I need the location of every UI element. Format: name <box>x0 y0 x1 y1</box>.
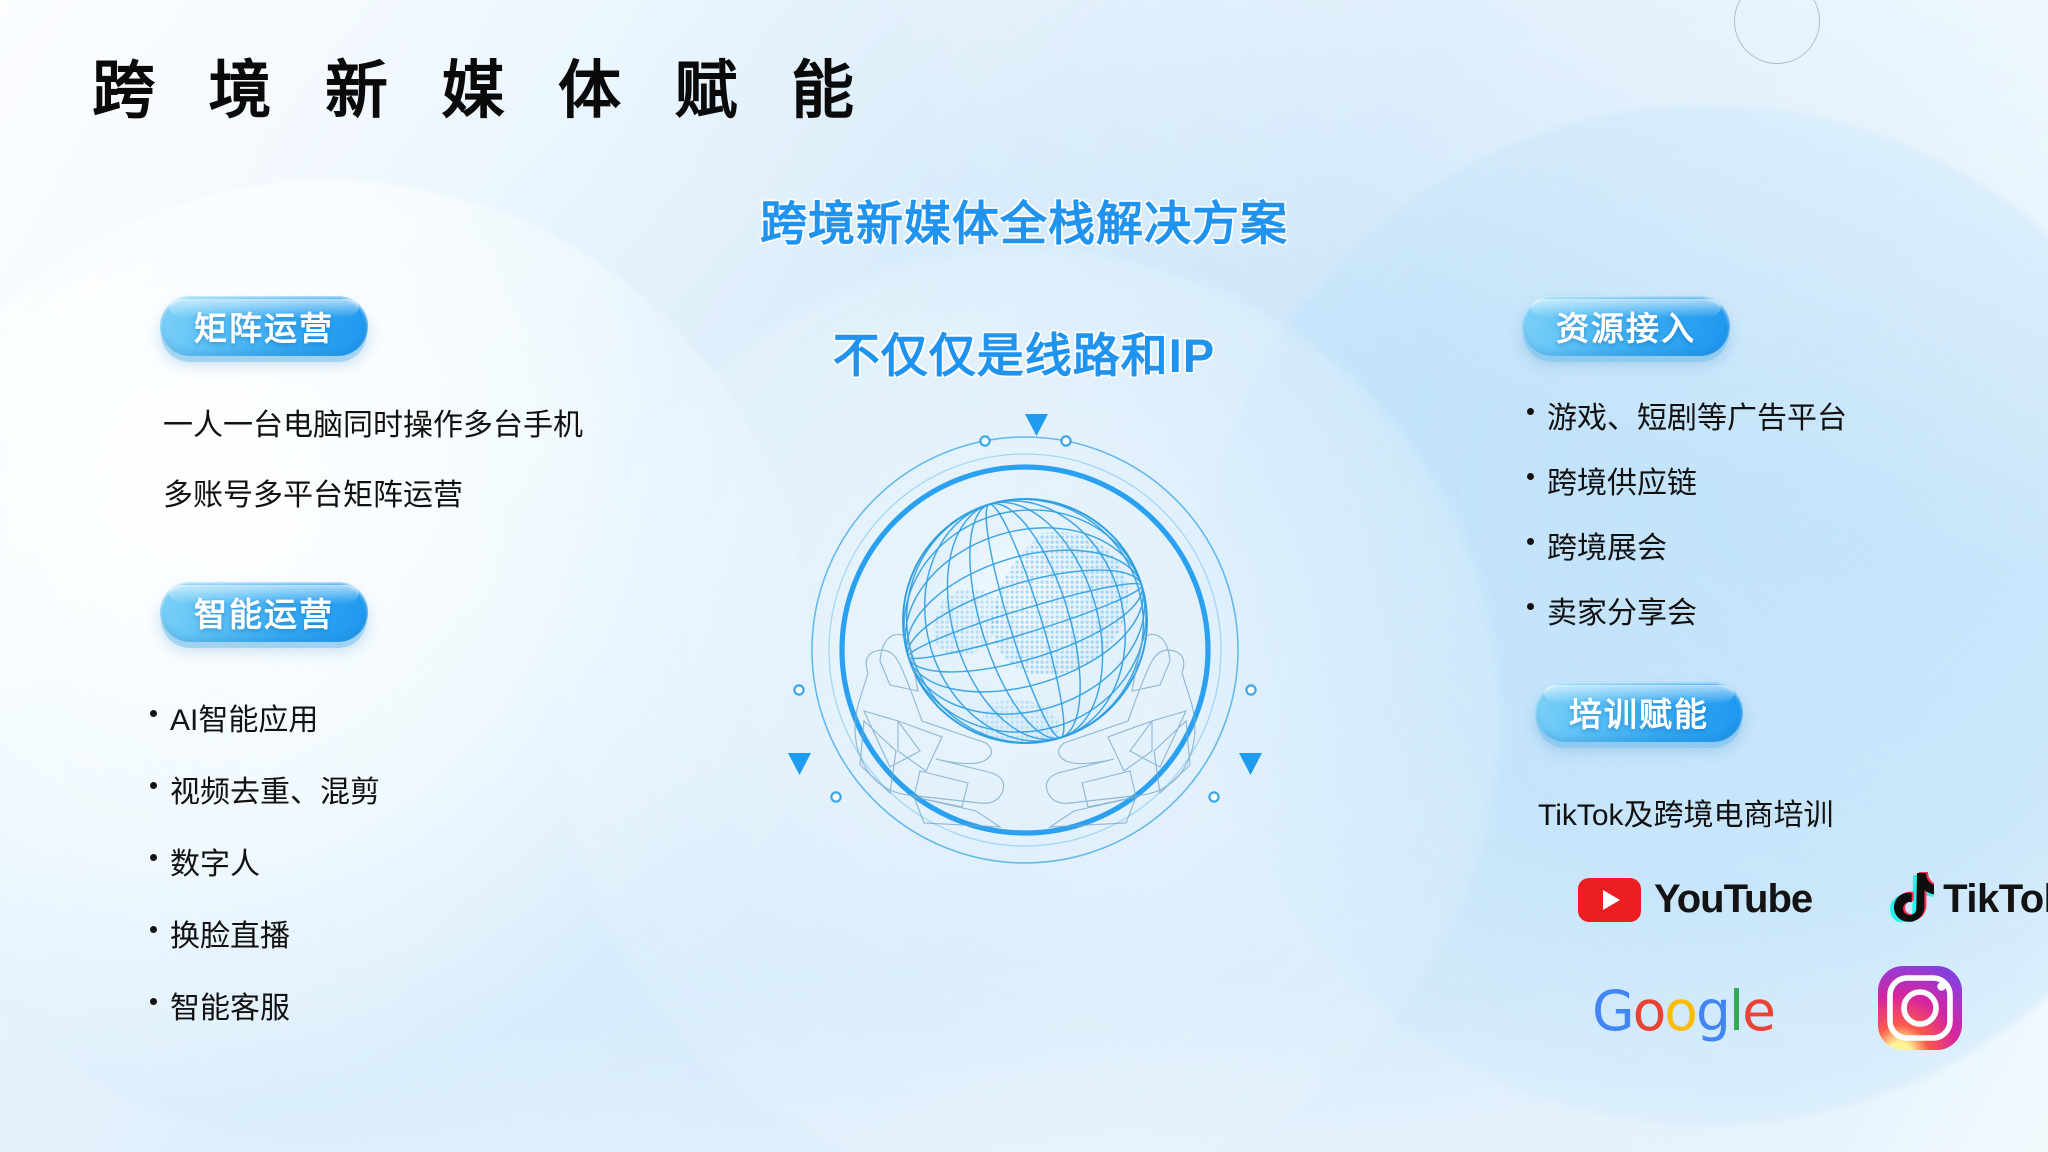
item-label: 跨境供应链 <box>1547 458 1697 502</box>
left-section-2-item-5: 智能客服 <box>150 983 290 1027</box>
bullet-dot-icon <box>1527 538 1534 545</box>
pill-label: 培训赋能 <box>1569 688 1709 736</box>
page-title: 跨 境 新 媒 体 赋 能 <box>92 40 872 131</box>
left-section-2-item-4: 换脸直播 <box>150 911 290 955</box>
pill-right-section-1[interactable]: 资源接入 <box>1522 296 1730 356</box>
bullet-dot-icon <box>1527 473 1534 480</box>
item-label: 游戏、短剧等广告平台 <box>1547 393 1847 437</box>
pill-label: 智能运营 <box>194 588 334 636</box>
youtube-logo[interactable]: YouTube <box>1578 877 1812 922</box>
right-section-1-item-1: 游戏、短剧等广告平台 <box>1527 393 1847 437</box>
globe-sphere <box>876 470 1174 772</box>
youtube-label: YouTube <box>1654 877 1812 922</box>
bullet-dot-icon <box>150 854 157 861</box>
tiktok-logo[interactable]: TikTok <box>1890 872 2048 927</box>
left-section-2-item-2: 视频去重、混剪 <box>150 767 380 811</box>
youtube-play-icon <box>1578 878 1641 922</box>
item-label: 视频去重、混剪 <box>170 767 380 811</box>
pill-left-section-1[interactable]: 矩阵运营 <box>160 296 368 356</box>
bullet-dot-icon <box>150 710 157 717</box>
pill-label: 资源接入 <box>1556 302 1696 350</box>
bullet-dot-icon <box>150 998 157 1005</box>
pill-right-section-2[interactable]: 培训赋能 <box>1535 682 1743 742</box>
item-label: 换脸直播 <box>170 911 290 955</box>
bullet-dot-icon <box>150 926 157 933</box>
item-label: 智能客服 <box>170 983 290 1027</box>
item-label: 跨境展会 <box>1547 523 1667 567</box>
globe-in-hands-illustration <box>780 405 1270 895</box>
item-label: 卖家分享会 <box>1547 588 1697 632</box>
item-label: 数字人 <box>170 839 260 883</box>
tiktok-label: TikTok <box>1943 877 2048 922</box>
logo-row-bottom: Google <box>1592 962 1966 1059</box>
left-section-1-line-1: 一人一台电脑同时操作多台手机 <box>163 400 583 444</box>
bullet-dot-icon <box>1527 408 1534 415</box>
google-logo[interactable]: Google <box>1592 979 1774 1043</box>
item-label: AI智能应用 <box>170 695 318 739</box>
logo-row-top: YouTube TikTok <box>1578 872 2048 927</box>
left-section-2-item-3: 数字人 <box>150 839 260 883</box>
right-section-2-line-1: TikTok及跨境电商培训 <box>1538 790 1834 834</box>
pill-left-section-2[interactable]: 智能运营 <box>160 582 368 642</box>
left-section-2-item-1: AI智能应用 <box>150 695 318 739</box>
instagram-logo[interactable] <box>1874 962 1966 1059</box>
tiktok-note-icon <box>1890 872 1934 927</box>
bullet-dot-icon <box>1527 603 1534 610</box>
pill-label: 矩阵运营 <box>194 302 334 350</box>
right-section-1-item-2: 跨境供应链 <box>1527 458 1697 502</box>
right-section-1-item-3: 跨境展会 <box>1527 523 1667 567</box>
center-heading-primary: 跨境新媒体全栈解决方案 <box>0 185 2048 254</box>
left-section-1-line-2: 多账号多平台矩阵运营 <box>163 470 463 514</box>
right-section-1-item-4: 卖家分享会 <box>1527 588 1697 632</box>
bullet-dot-icon <box>150 782 157 789</box>
